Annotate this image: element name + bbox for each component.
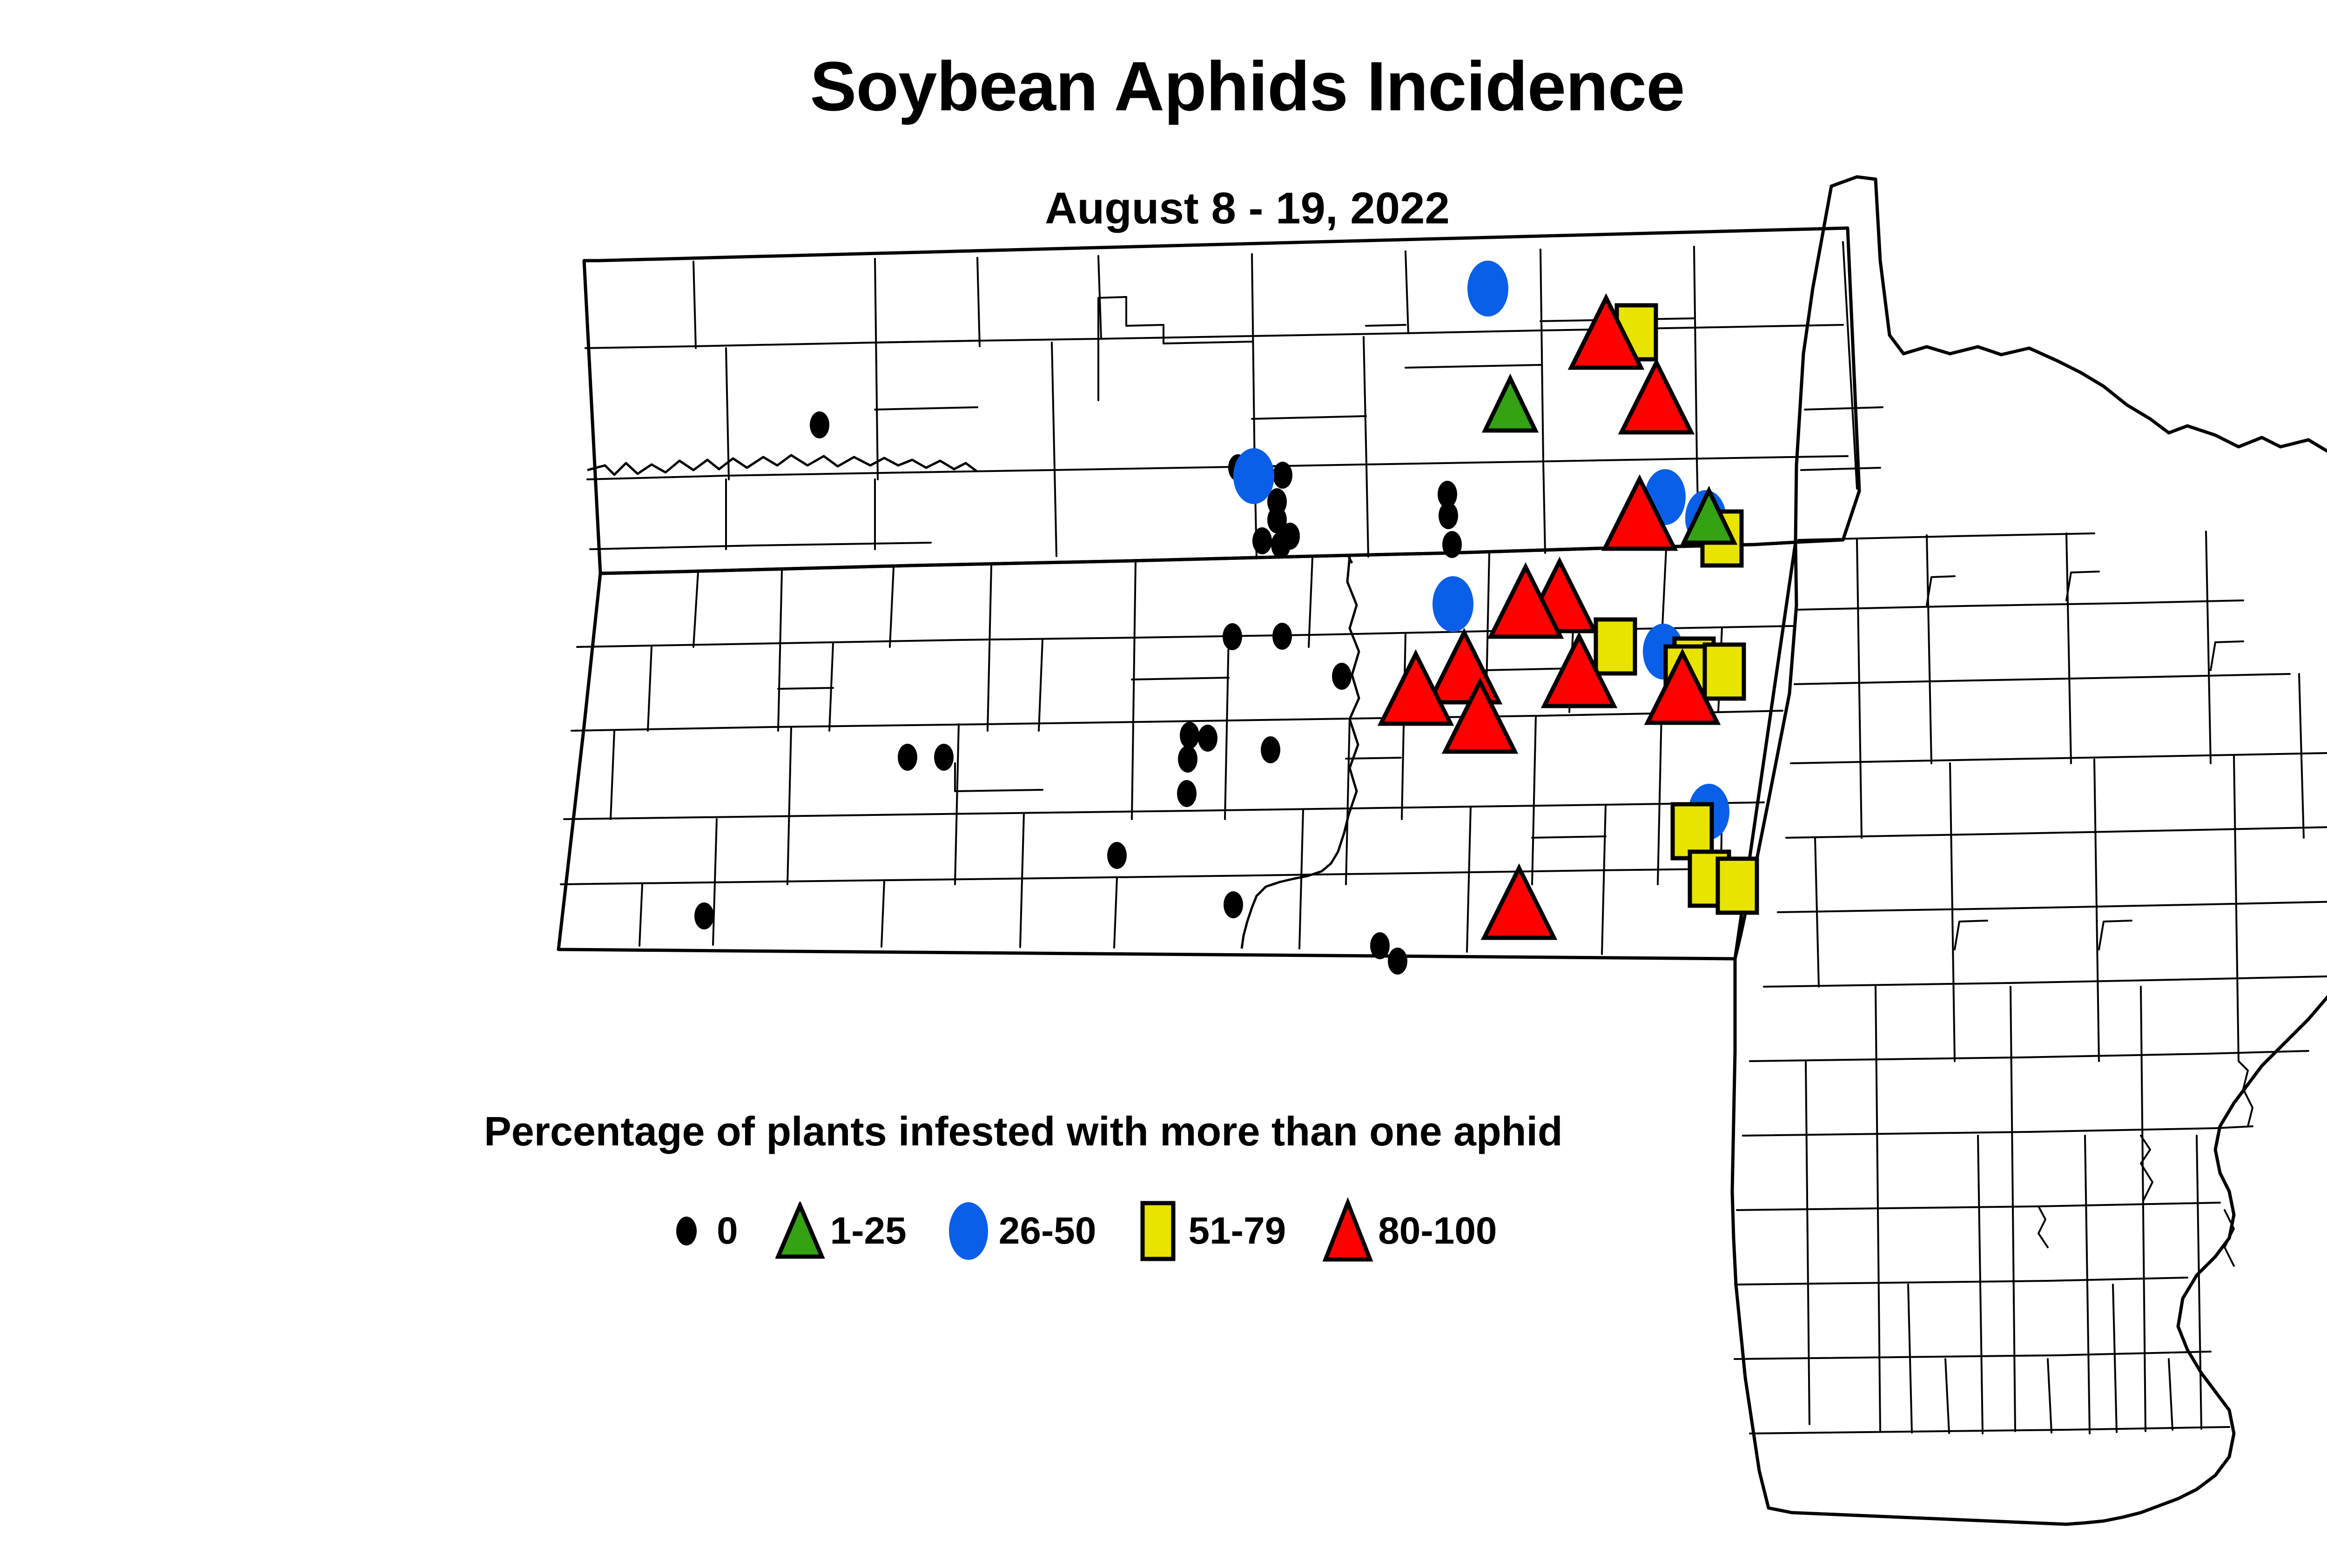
legend-label-80-100: 80-100 xyxy=(1378,1209,1497,1253)
circle-marker-icon xyxy=(943,1205,994,1257)
map-marker xyxy=(1484,868,1554,938)
map-marker xyxy=(1370,932,1390,959)
map-marker xyxy=(1280,523,1300,550)
legend-item-0[interactable]: 0 xyxy=(661,1205,738,1257)
map-marker xyxy=(1224,891,1243,918)
map-marker xyxy=(1467,261,1508,316)
legend-label-0: 0 xyxy=(717,1209,738,1253)
legend-label-1-25: 1-25 xyxy=(830,1209,907,1253)
dot-marker-icon xyxy=(661,1205,712,1257)
legend-caption: Percentage of plants infested with more … xyxy=(484,1108,1563,1155)
minnesota-counties xyxy=(1732,177,2327,1524)
map-marker xyxy=(1177,780,1197,807)
map-marker xyxy=(1388,948,1407,975)
map-marker xyxy=(934,744,954,771)
map-marker xyxy=(1439,502,1458,529)
triangle-marker-icon xyxy=(774,1205,826,1257)
map-marker xyxy=(1433,576,1473,632)
soybean-aphid-incidence-map: Soybean Aphids Incidence August 8 - 19, … xyxy=(0,0,2327,1568)
map-marker xyxy=(810,411,829,438)
map-marker xyxy=(1621,363,1691,432)
map-marker xyxy=(1178,746,1197,773)
legend-item-80-100[interactable]: 80-100 xyxy=(1322,1205,1497,1257)
map-marker xyxy=(1233,448,1274,504)
map-marker xyxy=(1223,623,1242,650)
map-marker xyxy=(1198,725,1217,752)
map-marker xyxy=(1107,842,1127,869)
incidence-markers xyxy=(694,261,1757,975)
map-marker xyxy=(1273,462,1292,489)
map-marker xyxy=(1442,531,1462,558)
map-marker xyxy=(694,902,714,929)
map-marker xyxy=(1180,722,1199,749)
map-marker xyxy=(1485,378,1535,431)
south-dakota-counties xyxy=(558,542,1796,959)
map-canvas xyxy=(0,0,2327,1568)
legend-item-51-79[interactable]: 51-79 xyxy=(1132,1205,1286,1257)
map-marker xyxy=(1596,619,1635,673)
legend-item-26-50[interactable]: 26-50 xyxy=(943,1205,1096,1257)
map-marker xyxy=(1252,527,1272,554)
map-marker xyxy=(1718,859,1757,913)
map-marker xyxy=(1429,633,1499,702)
triangle-marker-icon xyxy=(1322,1205,1373,1257)
square-marker-icon xyxy=(1132,1205,1184,1257)
legend-item-1-25[interactable]: 1-25 xyxy=(774,1205,907,1257)
map-marker xyxy=(1272,623,1292,650)
map-marker xyxy=(898,744,917,771)
map-marker xyxy=(1332,663,1352,690)
legend: 0 1-25 26-50 51-79 xyxy=(661,1205,1533,1257)
legend-label-51-79: 51-79 xyxy=(1188,1209,1286,1253)
map-marker xyxy=(1261,736,1280,763)
legend-label-26-50: 26-50 xyxy=(999,1209,1096,1253)
map-marker xyxy=(1705,645,1744,699)
